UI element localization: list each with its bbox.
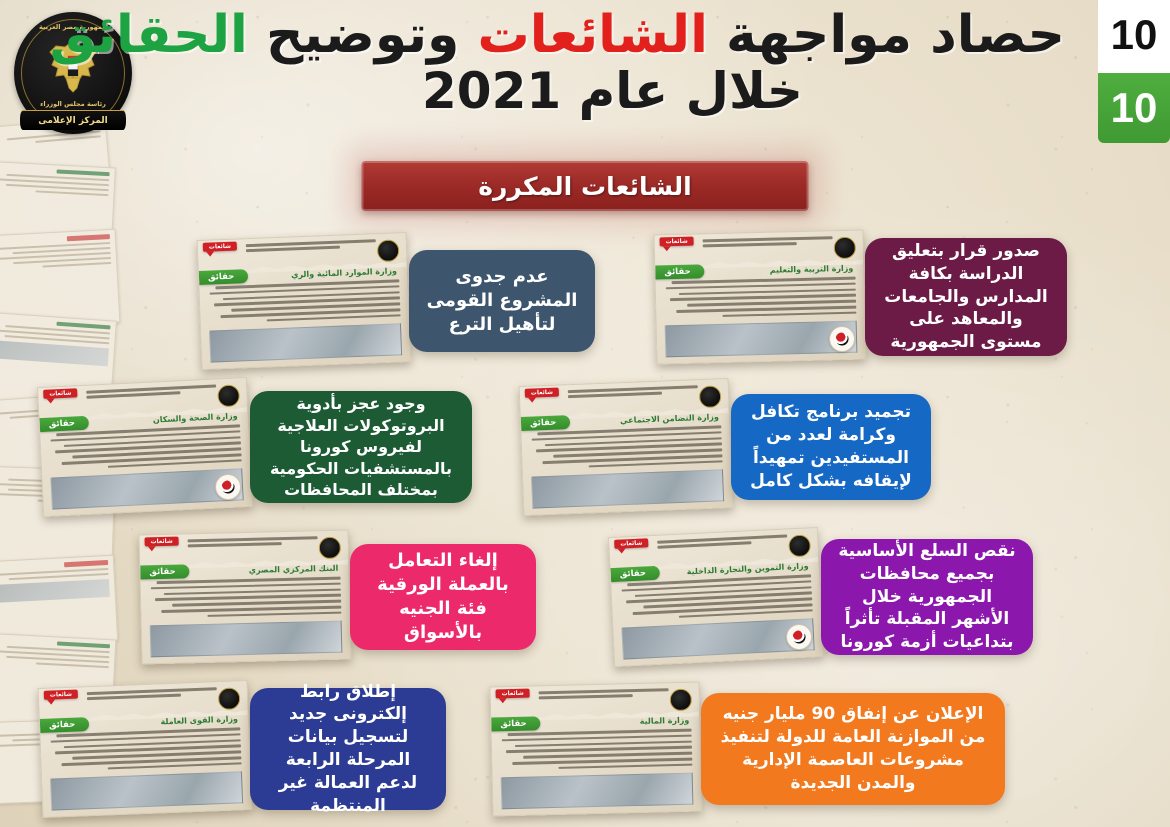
crest-icon — [319, 537, 342, 560]
title-line-1: حصاد مواجهة الشائعات وتوضيح الحقائق — [160, 8, 1065, 63]
rumor-tag: شائعات — [614, 538, 648, 549]
fact-card-thumbnail-3[interactable]: شائعات حقائق وزارة الصحة والسكان — [37, 377, 253, 517]
ministry-label-7: وزارة القوى العاملة — [160, 714, 238, 726]
thumbnail-photo — [501, 773, 694, 810]
title-harvest-text: حصاد مواجهة — [708, 5, 1065, 65]
card-takaful-karama-freeze[interactable]: تجميد برنامج تكافل وكرامة لعدد من المستف… — [731, 394, 931, 500]
card-90-billion-capital[interactable]: الإعلان عن إنفاق 90 مليار جنيه من المواز… — [701, 693, 1005, 805]
card-irregular-labour-link[interactable]: إطلاق رابط إلكترونى جديد لتسجيل بيانات ا… — [250, 688, 446, 810]
rumor-row-3: وجود عجز بأدوية البروتوكولات العلاجية لف… — [66, 382, 472, 512]
rumor-tag: شائعات — [203, 242, 237, 252]
crest-icon — [788, 534, 811, 557]
fact-tag: حقائق — [39, 416, 89, 432]
card-covid-drug-shortage-text: وجود عجز بأدوية البروتوكولات العلاجية لف… — [266, 393, 456, 500]
fact-tag: حقائق — [40, 717, 90, 733]
fact-card-thumbnail-8[interactable]: شائعات حقائق وزارة المالية — [489, 681, 702, 816]
page-number-green: 10 — [1098, 73, 1170, 143]
fact-tag: حقائق — [140, 564, 190, 579]
fact-card-thumbnail-2[interactable]: شائعات حقائق وزارة التربية والتعليم — [653, 229, 866, 364]
rumor-tag: شائعات — [44, 690, 78, 700]
rumor-row-5: إلغاء التعامل بالعملة الورقية فئة الجنيه… — [166, 532, 536, 662]
rumor-row-7: إطلاق رابط إلكترونى جديد لتسجيل بيانات ا… — [66, 684, 446, 814]
thumbnail-photo — [50, 771, 243, 810]
rumor-row-6: نقص السلع الأساسية بجميع محافظات الجمهور… — [637, 532, 1033, 662]
logo-band-text: المركز الإعلامى — [20, 110, 126, 130]
crest-icon — [834, 237, 857, 260]
card-90-billion-capital-text: الإعلان عن إنفاق 90 مليار جنيه من المواز… — [717, 703, 989, 794]
fact-card-thumbnail-5[interactable]: شائعات حقائق البنك المركزي المصري — [138, 529, 351, 664]
crest-icon — [670, 689, 693, 712]
card-one-pound-note-cancel[interactable]: إلغاء التعامل بالعملة الورقية فئة الجنيه… — [350, 544, 536, 650]
title-facts-word: الحقائق — [50, 5, 248, 65]
thumbnail-photo — [531, 469, 724, 508]
card-one-pound-note-cancel-text: إلغاء التعامل بالعملة الورقية فئة الجنيه… — [366, 549, 520, 645]
title-line-2: خلال عام 2021 — [160, 65, 1065, 118]
fact-tag: حقائق — [610, 566, 660, 582]
card-irregular-labour-link-text: إطلاق رابط إلكترونى جديد لتسجيل بيانات ا… — [266, 681, 430, 818]
fact-card-thumbnail-1[interactable]: شائعات حقائق وزارة الموارد المائية والري — [197, 232, 412, 370]
fact-card-thumbnail-6[interactable]: شائعات حقائق وزارة التموين والتجارة الدا… — [608, 527, 824, 667]
card-covid-drug-shortage[interactable]: وجود عجز بأدوية البروتوكولات العلاجية لف… — [250, 391, 472, 503]
title-rumors-word: الشائعات — [477, 5, 707, 65]
thumbnail-photo — [150, 621, 343, 658]
card-canal-rehabilitation[interactable]: عدم جدوى المشروع القومى لتأهيل الترع — [409, 250, 595, 352]
fact-tag: حقائق — [655, 264, 705, 279]
card-basic-goods-shortage[interactable]: نقص السلع الأساسية بجميع محافظات الجمهور… — [821, 539, 1033, 655]
card-school-suspension[interactable]: صدور قرار بتعليق الدراسة بكافة المدارس و… — [865, 238, 1067, 356]
rumor-row-1: عدم جدوى المشروع القومى لتأهيل الترع شائ… — [225, 236, 595, 366]
title-and-clarifying-text: وتوضيح — [248, 5, 478, 65]
fact-tag: حقائق — [199, 269, 249, 285]
page-number-white: 10 — [1098, 0, 1170, 73]
ministry-label-5: البنك المركزي المصري — [249, 564, 339, 575]
rumor-tag: شائعات — [145, 537, 179, 547]
crest-icon — [217, 384, 240, 407]
fact-tag: حقائق — [521, 415, 571, 431]
crest-icon — [699, 385, 722, 408]
rumor-row-4: تجميد برنامج تكافل وكرامة لعدد من المستف… — [547, 382, 931, 512]
section-banner: الشائعات المكررة — [362, 161, 809, 211]
crest-icon — [377, 239, 400, 262]
rumor-row-2: صدور قرار بتعليق الدراسة بكافة المدارس و… — [681, 232, 1067, 362]
card-basic-goods-shortage-text: نقص السلع الأساسية بجميع محافظات الجمهور… — [837, 540, 1017, 654]
fact-tag: حقائق — [491, 716, 541, 731]
crest-icon — [218, 687, 241, 710]
thumbnail-photo — [209, 323, 402, 362]
section-banner-label: الشائعات المكررة — [478, 172, 691, 201]
rumor-tag: شائعات — [525, 388, 559, 398]
card-takaful-karama-freeze-text: تجميد برنامج تكافل وكرامة لعدد من المستف… — [747, 401, 915, 492]
rumor-tag: شائعات — [660, 237, 694, 247]
fact-card-thumbnail-4[interactable]: شائعات حقائق وزارة التضامن الاجتماعي — [519, 378, 734, 516]
logo-mid-text: رئاسة مجلس الوزراء — [14, 100, 132, 108]
rumor-tag: شائعات — [43, 388, 77, 399]
rumor-tag: شائعات — [496, 689, 530, 699]
ministry-label-8: وزارة المالية — [640, 716, 690, 726]
card-canal-rehabilitation-text: عدم جدوى المشروع القومى لتأهيل الترع — [425, 265, 579, 337]
fact-card-thumbnail-7[interactable]: شائعات حقائق وزارة القوى العاملة — [38, 680, 253, 818]
ministry-label-2: وزارة التربية والتعليم — [770, 264, 854, 275]
rumor-row-8: الإعلان عن إنفاق 90 مليار جنيه من المواز… — [517, 684, 1005, 814]
page-title: حصاد مواجهة الشائعات وتوضيح الحقائق خلال… — [160, 8, 1065, 118]
card-school-suspension-text: صدور قرار بتعليق الدراسة بكافة المدارس و… — [881, 240, 1051, 354]
page-number-badges: 10 10 — [1098, 0, 1170, 143]
infographic-canvas: جمهورية مصر العربية رئاسة مجلس الوزراء ا… — [0, 0, 1170, 827]
